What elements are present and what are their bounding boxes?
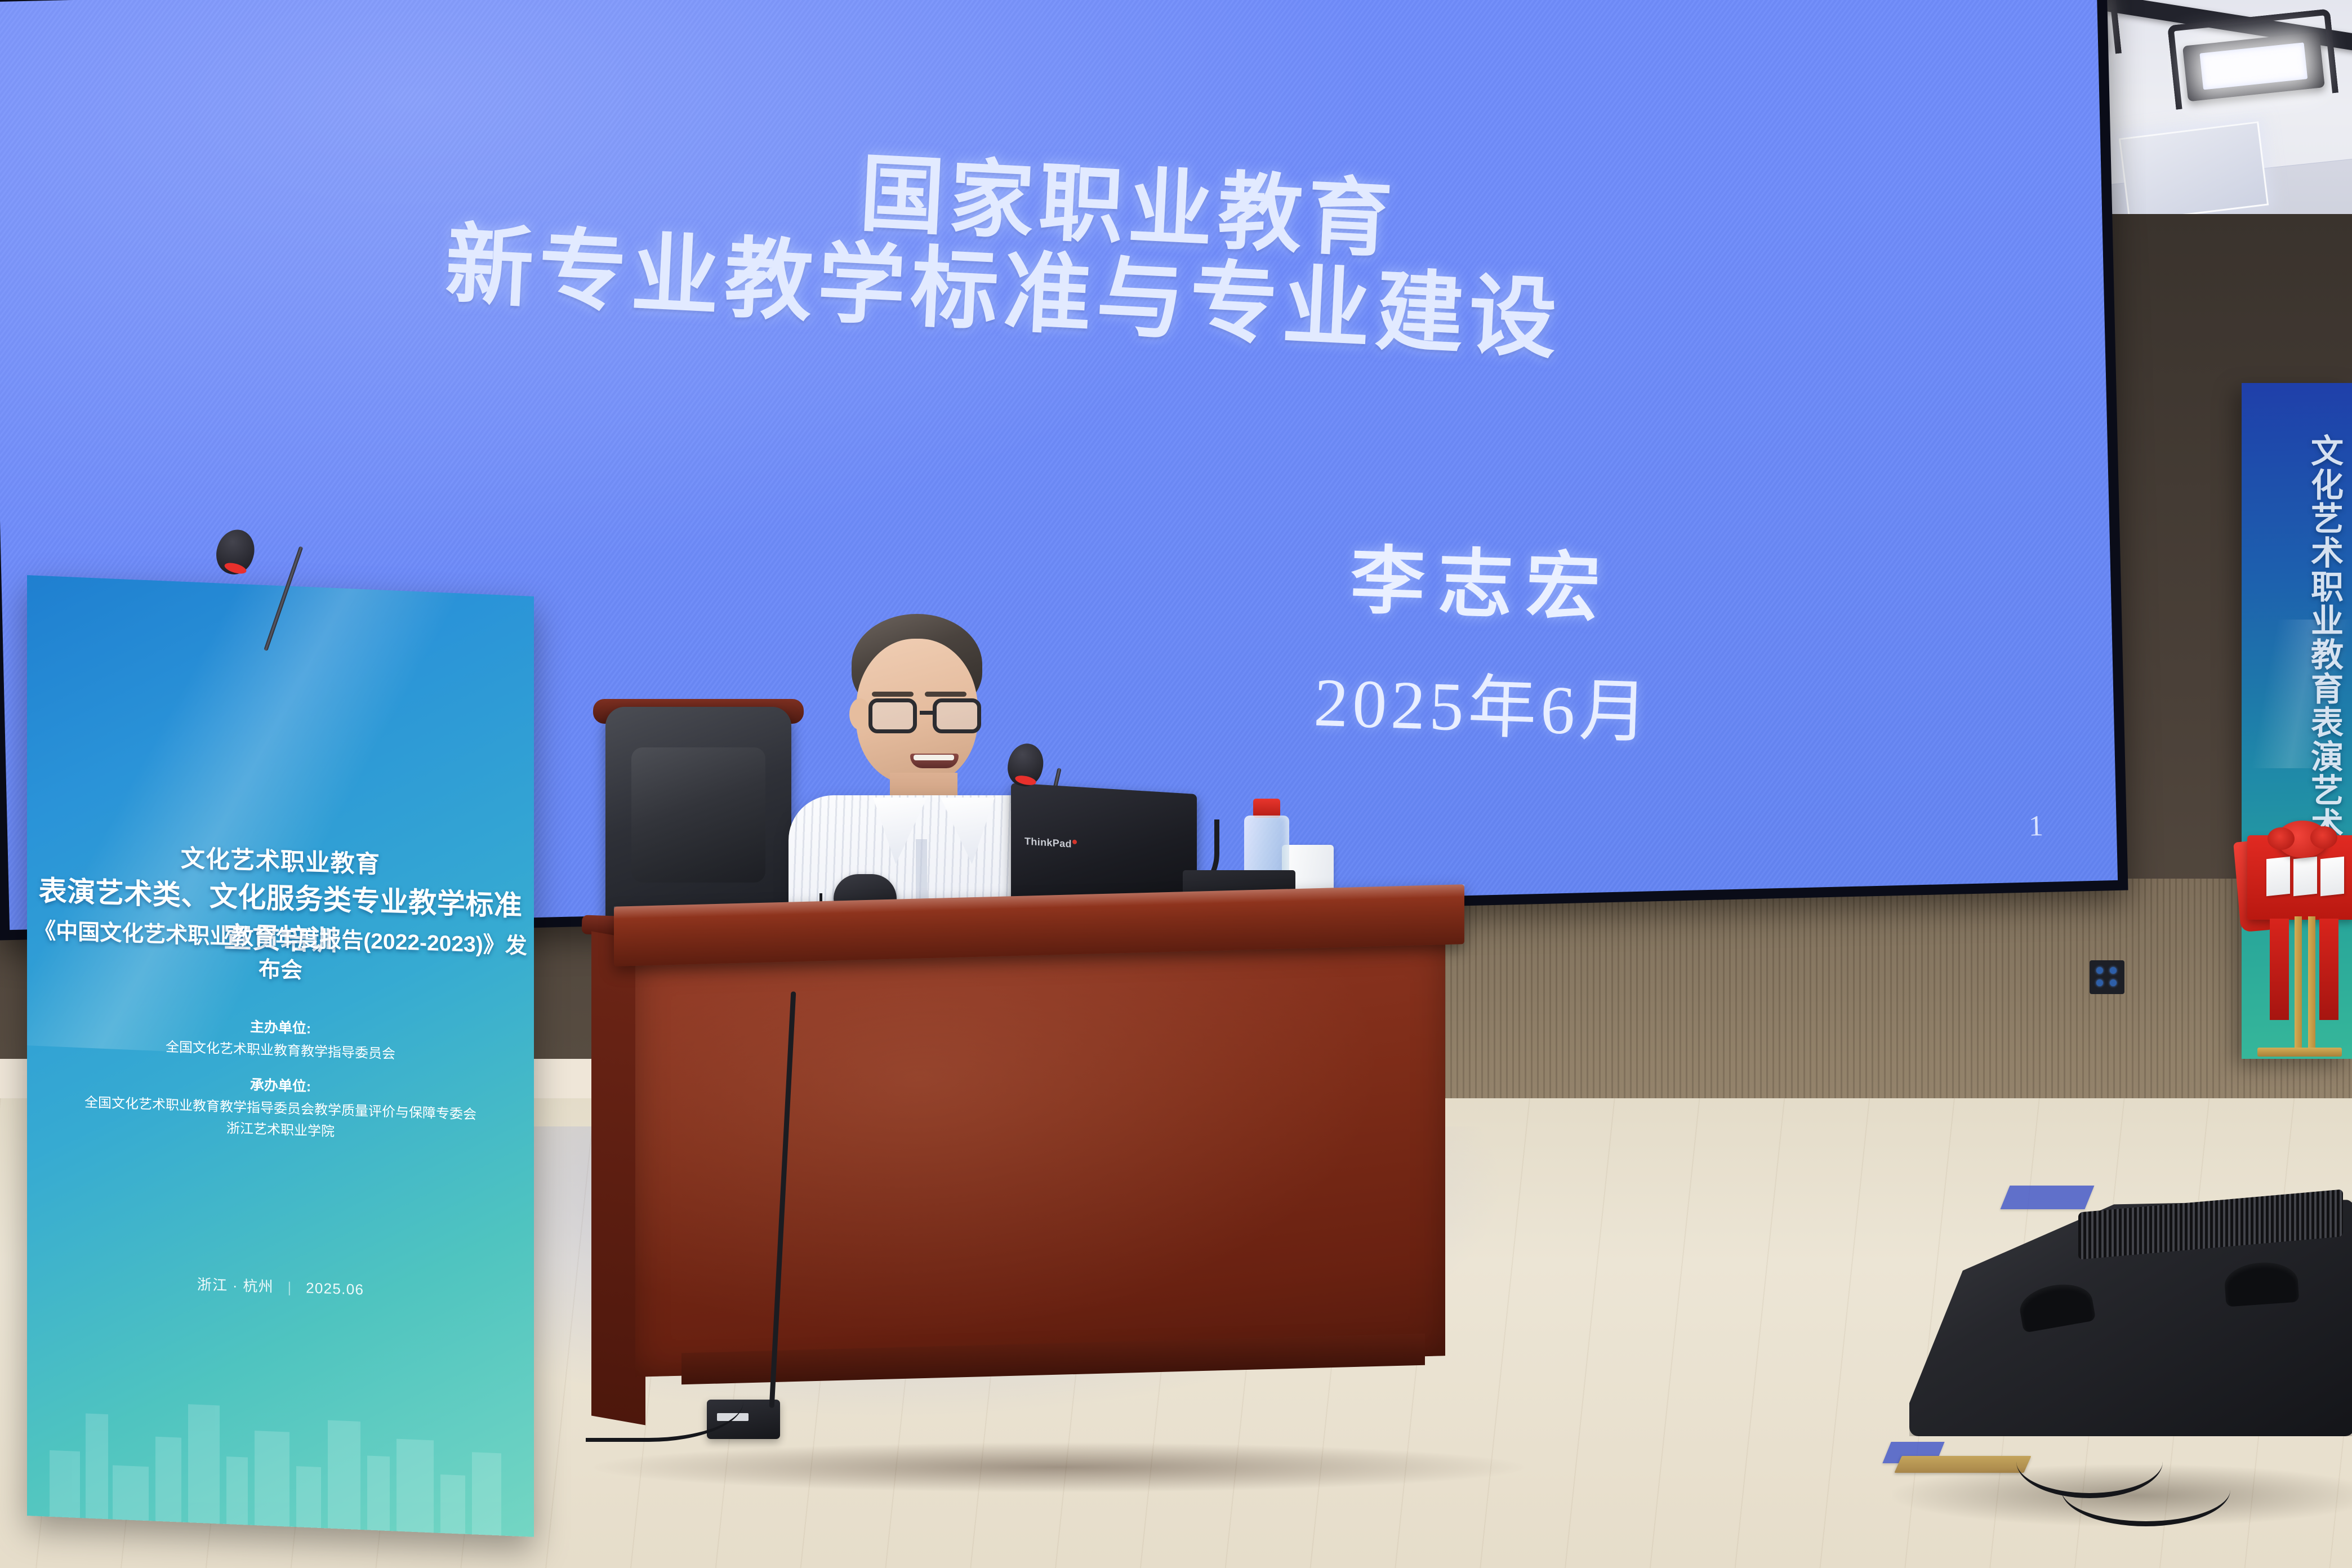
ribbon-tail [2270,919,2289,1020]
eyeglasses-lens [933,698,981,733]
released-book [2293,857,2317,896]
podium-footer: 浙江 · 杭州 | 2025.06 [27,1268,534,1304]
stand-leg [2308,916,2315,1054]
photo-scene: 国家职业教育 新专业教学标准与专业建设 李志宏 2025年6月 1 [0,0,2352,1568]
stand-base [2257,1048,2342,1057]
wall-outlet-panel[interactable] [2090,960,2124,994]
person-eyebrow [872,692,914,697]
eyeglasses-bridge [920,711,936,715]
spotlight-lens [2200,42,2308,90]
released-book [2320,857,2344,896]
slide-speaker-name: 李志宏 [1349,520,1615,636]
outlet-port [2096,967,2103,974]
desk-front-panel [635,939,1445,1377]
outlet-port [2110,979,2117,986]
person-eyebrow [925,692,966,697]
stage-spotlight [2167,8,2338,109]
released-book [2266,857,2290,896]
slide-title-line-2: 新专业教学标准与专业建设 [443,193,1565,375]
bottle-cap [1253,799,1280,818]
recessed-ceiling-light [2119,121,2269,222]
person-mouth [910,754,959,768]
book-release-stand [2247,791,2352,1062]
slide-page-number: 1 [2028,809,2043,843]
eyeglasses-lens [868,698,917,733]
slide-date: 2025年6月 [1313,646,1654,756]
podium-footer-date: 2025.06 [306,1279,364,1298]
podium-footer-location: 浙江 · 杭州 [197,1276,274,1295]
event-podium-panel: 文化艺术职业教育 表演艺术类、文化服务类专业教学标准宣贯培训 《中国文化艺术职业… [27,575,534,1537]
podium-text-block: 文化艺术职业教育 表演艺术类、文化服务类专业教学标准宣贯培训 《中国文化艺术职业… [27,578,534,1534]
podium-footer-separator: | [288,1279,292,1295]
stand-leg [2295,916,2302,1054]
ribbon-tail [2319,919,2338,1020]
ribbon-bow [2277,821,2328,858]
outlet-port [2096,979,2103,986]
outlet-port [2110,967,2117,974]
monitor-cable [2061,1453,2230,1526]
person-ear [849,698,871,730]
